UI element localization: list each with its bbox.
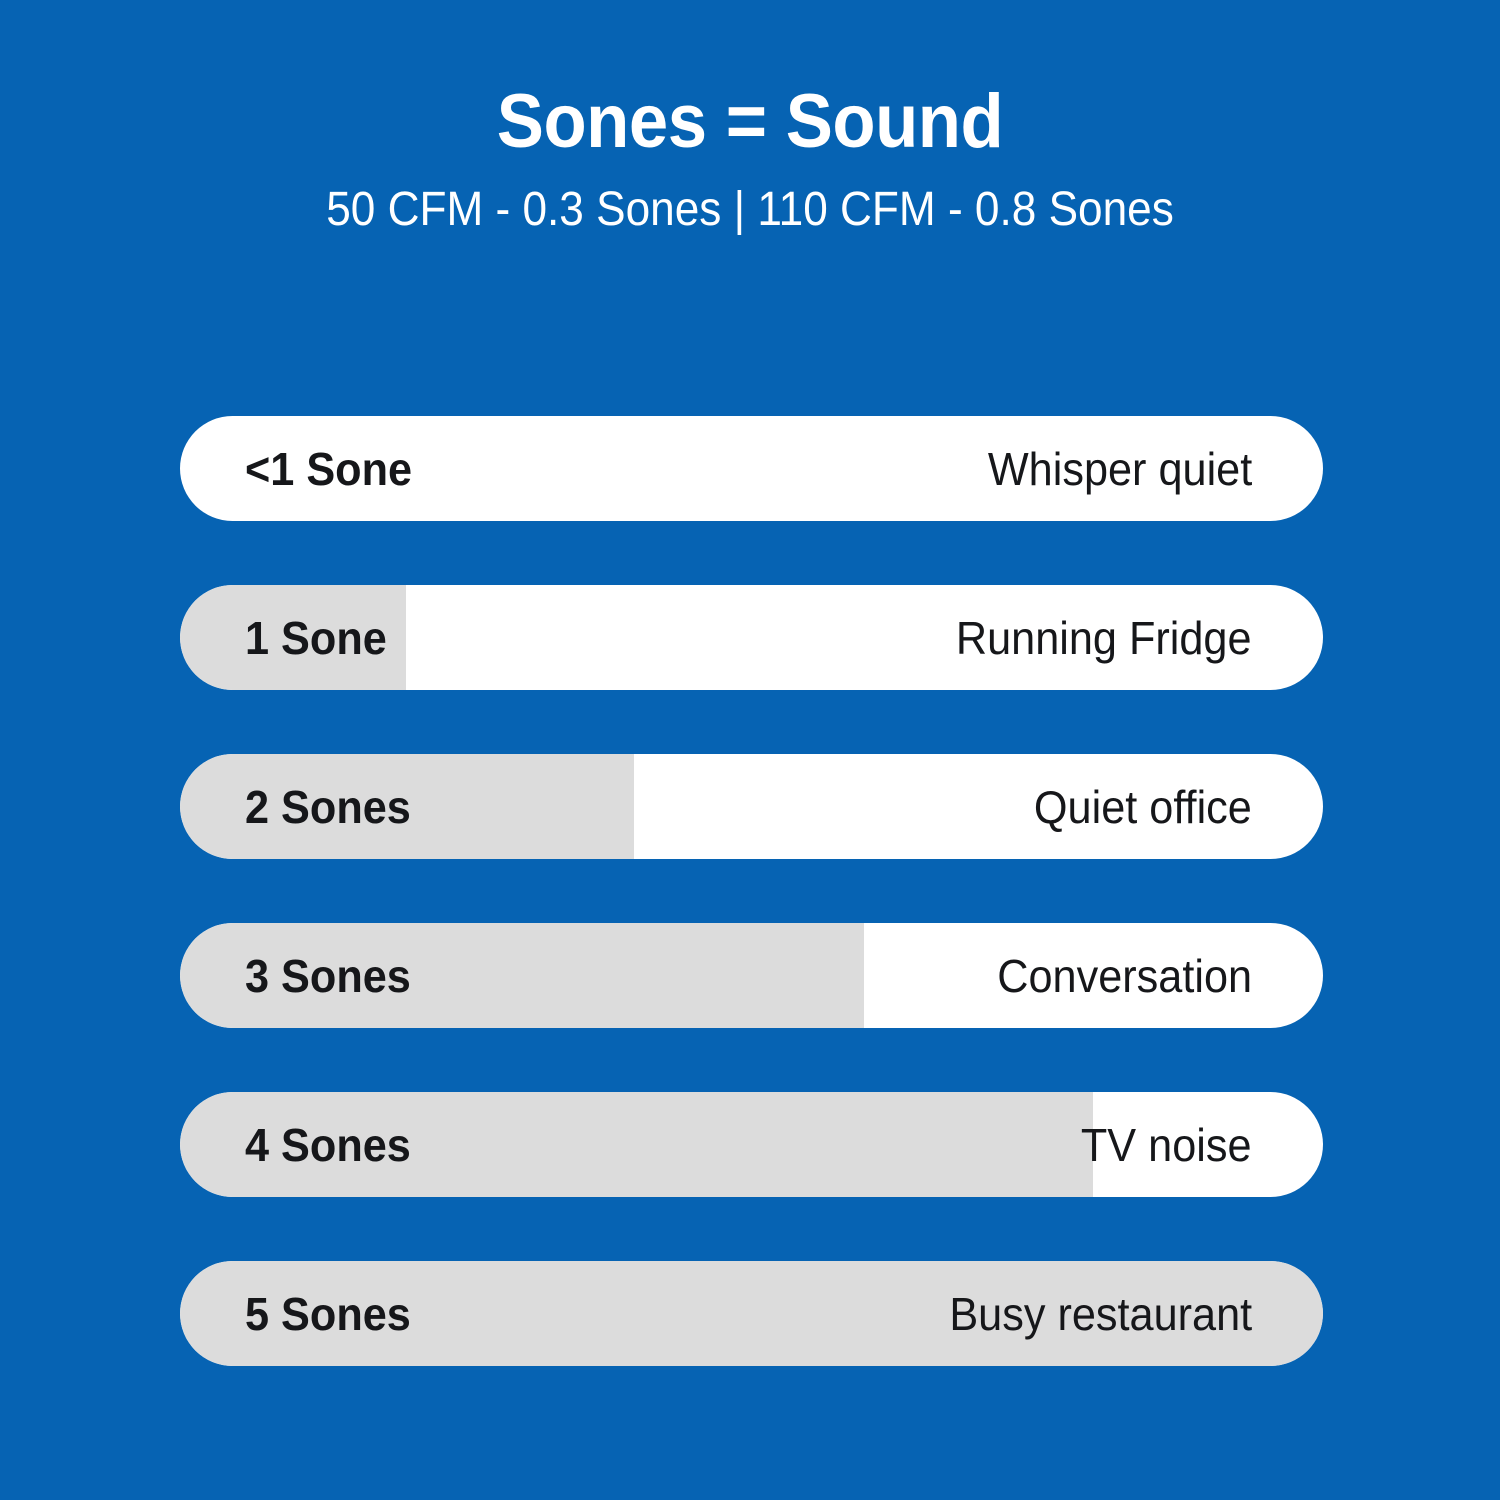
bar-content-1: 1 Sone Running Fridge xyxy=(180,585,1323,690)
sone-scale-bar-list: <1 Sone Whisper quiet 1 Sone Running Fri… xyxy=(180,416,1323,1366)
list-item: 5 Sones Busy restaurant xyxy=(180,1261,1323,1366)
bar-level-label: 5 Sones xyxy=(245,1291,411,1337)
infographic-header: Sones = Sound 50 CFM - 0.3 Sones | 110 C… xyxy=(0,0,1500,237)
bar-content-0: <1 Sone Whisper quiet xyxy=(180,416,1323,521)
bar-description-label: Quiet office xyxy=(1034,784,1252,830)
bar-level-label: 4 Sones xyxy=(245,1122,411,1168)
bar-content-2: 2 Sones Quiet office xyxy=(180,754,1323,859)
bar-level-label: 2 Sones xyxy=(245,784,411,830)
bar-content-5: 5 Sones Busy restaurant xyxy=(180,1261,1323,1366)
bar-description-label: Conversation xyxy=(997,953,1252,999)
bar-level-label: 3 Sones xyxy=(245,953,411,999)
list-item: <1 Sone Whisper quiet xyxy=(180,416,1323,521)
list-item: 4 Sones TV noise xyxy=(180,1092,1323,1197)
list-item: 2 Sones Quiet office xyxy=(180,754,1323,859)
bar-level-label: 1 Sone xyxy=(245,615,387,661)
bar-description-label: Running Fridge xyxy=(956,615,1252,661)
bar-description-label: Whisper quiet xyxy=(988,446,1252,492)
page-subtitle: 50 CFM - 0.3 Sones | 110 CFM - 0.8 Sones xyxy=(60,162,1440,237)
sones-sound-infographic: Sones = Sound 50 CFM - 0.3 Sones | 110 C… xyxy=(0,0,1500,1500)
page-title: Sones = Sound xyxy=(53,0,1448,162)
bar-description-label: TV noise xyxy=(1081,1122,1252,1168)
bar-content-4: 4 Sones TV noise xyxy=(180,1092,1323,1197)
list-item: 1 Sone Running Fridge xyxy=(180,585,1323,690)
list-item: 3 Sones Conversation xyxy=(180,923,1323,1028)
bar-content-3: 3 Sones Conversation xyxy=(180,923,1323,1028)
bar-level-label: <1 Sone xyxy=(245,446,412,492)
bar-description-label: Busy restaurant xyxy=(949,1291,1252,1337)
